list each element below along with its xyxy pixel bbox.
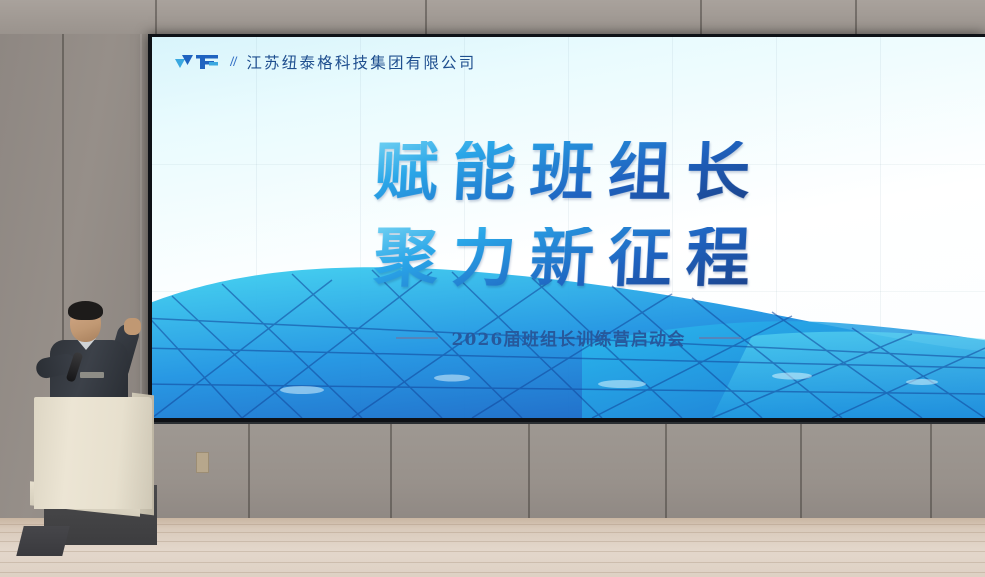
lower-wall-seam: [930, 424, 932, 520]
lower-wall-seam: [248, 424, 250, 520]
ceiling-band: [0, 0, 985, 35]
floor-plank-line: [0, 551, 985, 552]
lower-wall-seam: [390, 424, 392, 520]
wall-outlet-plate: [196, 452, 209, 473]
lower-wall-seam: [665, 424, 667, 520]
subtitle-row: 2026届班组长训练营启动会: [152, 325, 985, 350]
lower-wall-seam: [800, 424, 802, 520]
lower-wall-seam: [528, 424, 530, 520]
ceiling-seam: [700, 0, 702, 34]
ceiling-seam: [855, 0, 857, 34]
conference-room-scene: // 江苏纽泰格科技集团有限公司 赋能班组长 聚力新征程 2026届班组长训练营…: [0, 0, 985, 577]
presenter: [28, 300, 148, 410]
subtitle-left-dash: [396, 337, 438, 339]
subtitle-text: 2026届班组长训练营启动会: [451, 325, 685, 350]
headline-line-1: 赋能班组长: [372, 141, 765, 205]
company-name: 江苏纽泰格科技集团有限公司: [246, 51, 476, 73]
headline-line-2: 聚力新征程: [372, 227, 765, 291]
presenter-hair: [68, 301, 103, 320]
headline-line-2-row: 聚力新征程: [152, 227, 985, 291]
presenter-fist: [124, 318, 141, 335]
lectern: [34, 397, 152, 509]
floor-plank-line: [0, 562, 985, 563]
lower-wall-panels: [148, 422, 985, 522]
ceiling-seam: [155, 0, 157, 34]
presenter-name-badge: [80, 372, 104, 378]
led-screen-frame: // 江苏纽泰格科技集团有限公司 赋能班组长 聚力新征程 2026届班组长训练营…: [148, 34, 985, 422]
subtitle-right-dash: [699, 337, 741, 339]
headline-line-1-row: 赋能班组长: [152, 141, 985, 205]
floor-plank-line: [0, 572, 985, 573]
podium-foot: [16, 526, 69, 556]
ntg-logo-icon: [174, 52, 220, 72]
ntg-logo-svg: [174, 52, 220, 72]
ceiling-seam: [425, 0, 427, 34]
logo-separator: //: [230, 54, 236, 71]
presentation-slide: // 江苏纽泰格科技集团有限公司 赋能班组长 聚力新征程 2026届班组长训练营…: [152, 37, 985, 418]
slide-header: // 江苏纽泰格科技集团有限公司: [174, 51, 476, 73]
